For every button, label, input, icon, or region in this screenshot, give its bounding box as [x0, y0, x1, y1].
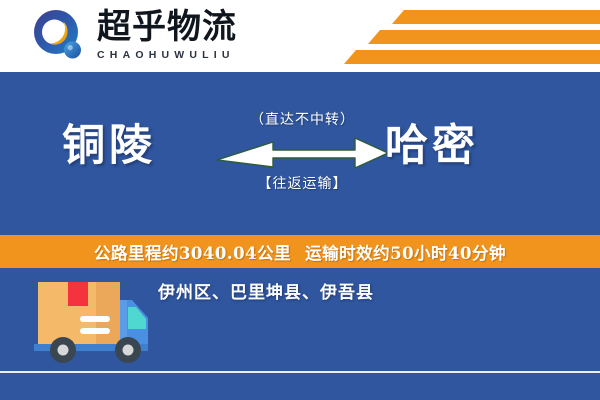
destination-city: 哈密	[385, 120, 479, 172]
districts-text: 伊州区、巴里坤县、伊吾县	[158, 278, 374, 303]
route-arrow	[215, 134, 390, 170]
company-logo	[33, 9, 89, 63]
route-band: 铜陵 （直达不中转） 【往返运输】 哈密	[0, 72, 600, 235]
brand-block: 超乎物流 CHAOHUWULIU	[97, 8, 277, 66]
direct-shipping-note: （直达不中转）	[215, 110, 390, 130]
delivery-truck-icon	[24, 274, 164, 368]
poster-header: 超乎物流 CHAOHUWULIU	[0, 0, 600, 72]
origin-city: 铜陵	[62, 120, 156, 172]
round-trip-note: 【往返运输】	[215, 174, 390, 194]
destination-districts-band: 伊州区、巴里坤县、伊吾县	[0, 268, 600, 400]
bottom-divider	[0, 371, 600, 373]
double-headed-arrow-icon	[215, 134, 390, 170]
shipping-route-poster: 超乎物流 CHAOHUWULIU 铜陵 （直达不中转） 【往返运输】 哈密 公路…	[0, 0, 600, 400]
stripe-1	[392, 10, 600, 24]
brand-name-cn: 超乎物流	[97, 8, 277, 46]
header-stripes-decoration	[290, 0, 600, 72]
truck-illustration	[24, 274, 164, 368]
brand-name-en: CHAOHUWULIU	[97, 48, 277, 62]
shipping-info-bar: 公路里程约3040.04公里 运输时效约50小时40分钟	[0, 235, 600, 268]
route-middle-block: （直达不中转） 【往返运输】	[215, 110, 390, 205]
distance-text: 公路里程约3040.04公里	[94, 240, 291, 264]
stripe-3	[344, 50, 600, 64]
circle-crescent-logo-icon	[33, 9, 89, 63]
stripe-2	[368, 30, 600, 44]
duration-text: 运输时效约50小时40分钟	[305, 240, 506, 264]
